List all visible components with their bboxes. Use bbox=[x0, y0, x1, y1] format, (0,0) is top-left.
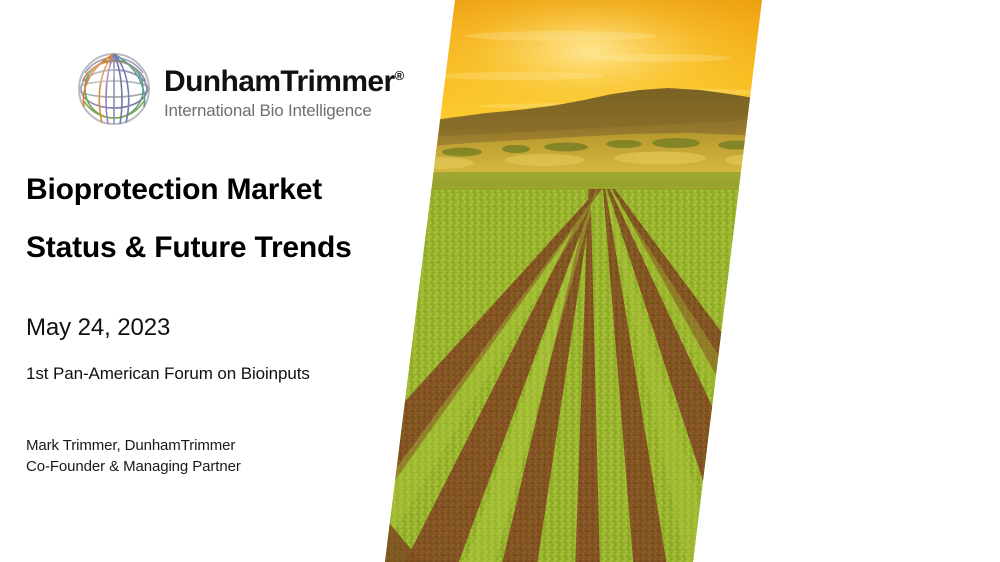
presentation-date: May 24, 2023 bbox=[26, 313, 170, 343]
title-line-2: Status & Future Trends bbox=[26, 219, 426, 277]
presentation-slide: DunhamTrimmer® International Bio Intelli… bbox=[0, 0, 1000, 562]
globe-wireframe-icon bbox=[70, 45, 158, 133]
presenter-name: Mark Trimmer, DunhamTrimmer bbox=[26, 435, 241, 456]
brand-tagline: International Bio Intelligence bbox=[164, 100, 404, 121]
title-line-1: Bioprotection Market bbox=[26, 161, 426, 219]
registered-trademark-icon: ® bbox=[395, 68, 405, 83]
brand-name-text: DunhamTrimmer bbox=[164, 65, 395, 98]
slide-text-column: DunhamTrimmer® International Bio Intelli… bbox=[0, 0, 440, 562]
brand-name: DunhamTrimmer® bbox=[164, 59, 404, 99]
event-name: 1st Pan-American Forum on Bioinputs bbox=[26, 363, 310, 385]
presenter-role: Co-Founder & Managing Partner bbox=[26, 456, 241, 477]
page-title: Bioprotection Market Status & Future Tre… bbox=[26, 161, 426, 277]
brand-logo: DunhamTrimmer® International Bio Intelli… bbox=[70, 45, 404, 133]
presenter-info: Mark Trimmer, DunhamTrimmer Co-Founder &… bbox=[26, 435, 241, 477]
brand-wordmark: DunhamTrimmer® International Bio Intelli… bbox=[164, 57, 404, 121]
